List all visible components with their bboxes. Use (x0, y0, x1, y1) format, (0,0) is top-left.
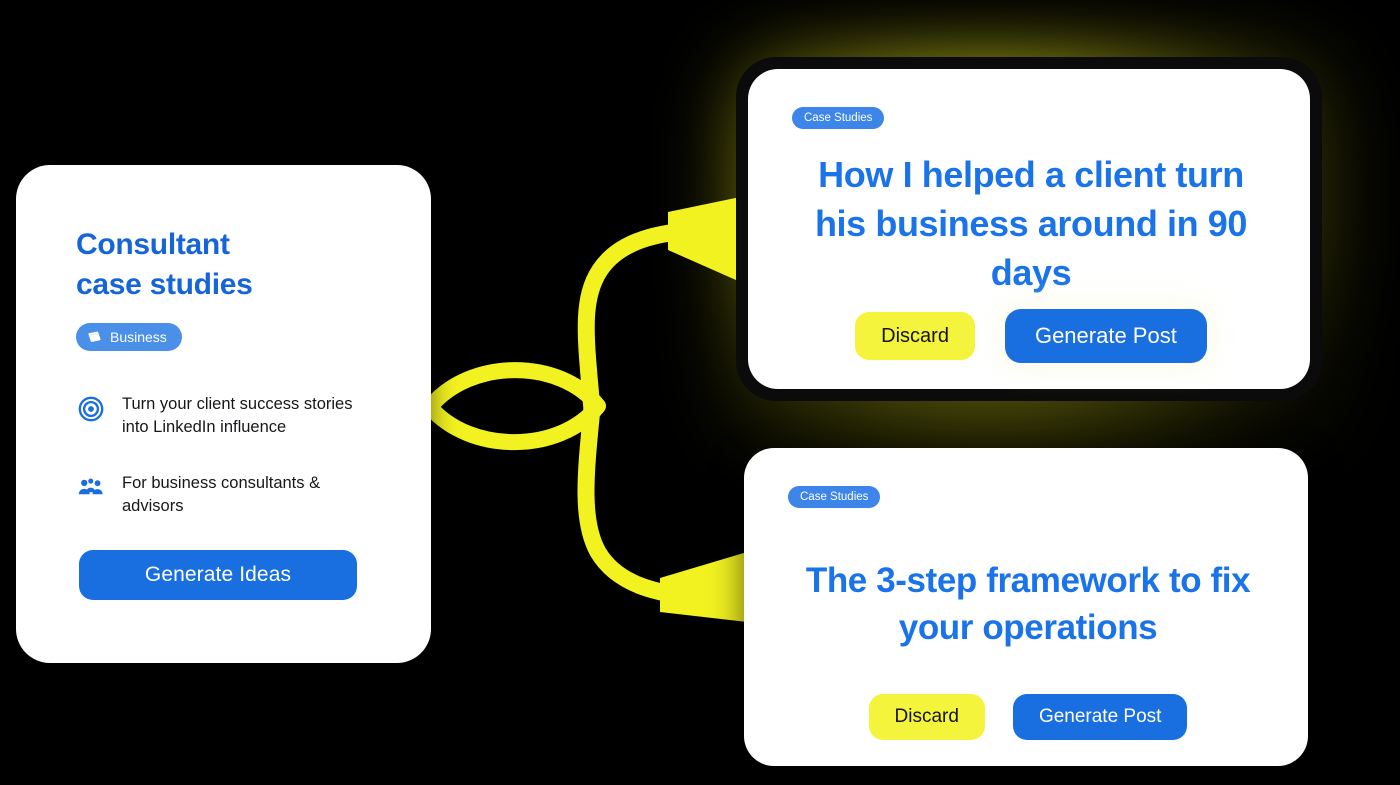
page-title: Consultant case studies (76, 225, 383, 305)
feature-row: For business consultants & advisors (76, 472, 383, 519)
result-title: The 3-step framework to fix your operati… (788, 522, 1268, 686)
discard-button[interactable]: Discard (869, 694, 985, 740)
feature-row: Turn your client success stories into Li… (76, 393, 383, 440)
source-card: Consultant case studies Business (16, 165, 431, 663)
generate-post-button[interactable]: Generate Post (1013, 694, 1188, 740)
feature-text: Turn your client success stories into Li… (122, 393, 383, 440)
result-title: How I helped a client turn his business … (792, 143, 1270, 305)
result-action-row: Discard Generate Post (792, 309, 1270, 363)
discard-button[interactable]: Discard (855, 312, 975, 360)
canvas-stage: Consultant case studies Business (0, 0, 1400, 785)
feature-text: For business consultants & advisors (122, 472, 383, 519)
people-group-icon (76, 473, 106, 503)
connector-wedge-top (668, 196, 745, 284)
category-tag-label: Business (110, 330, 167, 344)
result-action-row: Discard Generate Post (788, 694, 1268, 740)
target-icon (76, 394, 106, 424)
status-badge[interactable]: Case Studies (788, 486, 880, 508)
status-badge[interactable]: Case Studies (792, 107, 884, 129)
connector-loop (430, 370, 598, 442)
generate-ideas-button[interactable]: Generate Ideas (79, 550, 357, 600)
feature-list: Turn your client success stories into Li… (76, 393, 383, 519)
connector-wedge-bottom (660, 552, 747, 622)
result-card-top: Case Studies How I helped a client turn … (748, 69, 1310, 389)
book-icon (87, 329, 103, 345)
connector-branch-bottom (586, 408, 700, 598)
category-tag[interactable]: Business (76, 323, 182, 351)
result-card-bottom: Case Studies The 3-step framework to fix… (744, 448, 1308, 766)
generate-post-button[interactable]: Generate Post (1005, 309, 1207, 363)
connector-branch-top (586, 230, 700, 410)
top-result-frame: Case Studies How I helped a client turn … (736, 57, 1322, 401)
